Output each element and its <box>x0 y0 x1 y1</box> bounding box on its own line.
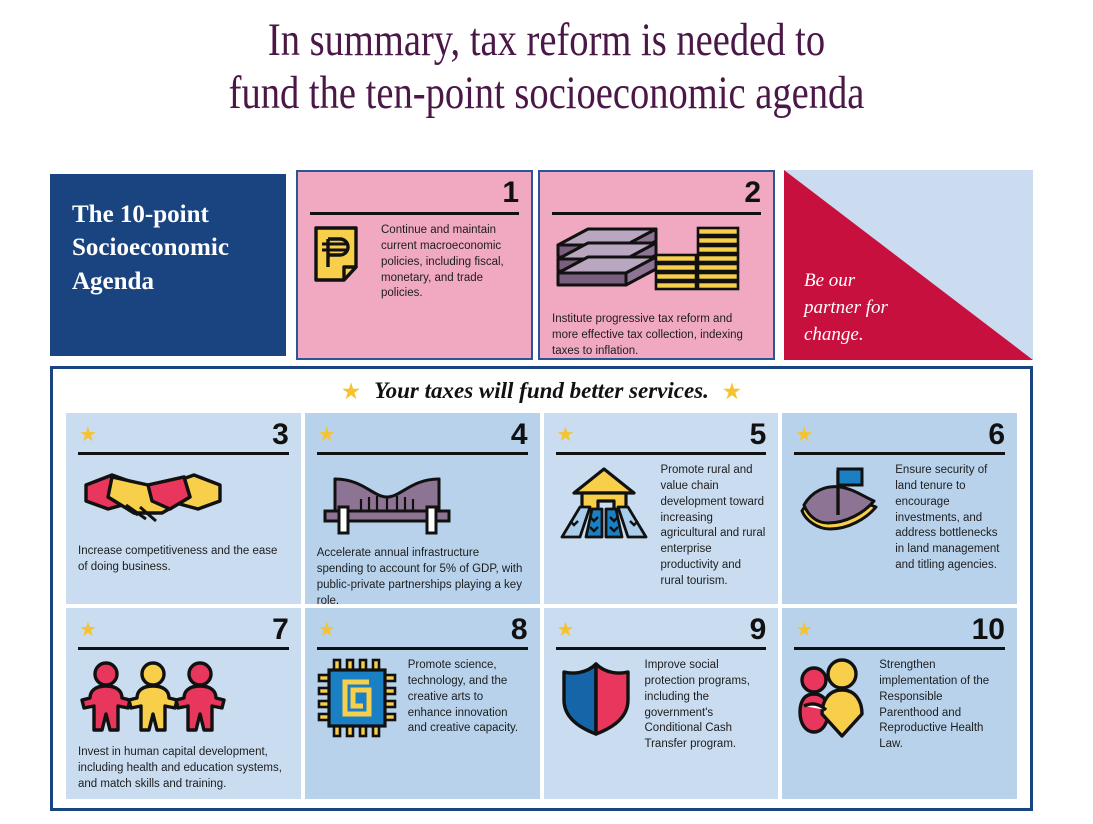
bridge-icon <box>317 463 528 540</box>
divider-rule <box>310 212 519 215</box>
divider-rule <box>78 452 289 455</box>
partner-message-line-3: change. <box>804 322 888 349</box>
agenda-item-2-description: Institute progressive tax reform and mor… <box>552 312 761 360</box>
divider-rule <box>78 647 289 650</box>
agenda-title-line-2: Socioeconomic <box>72 231 266 264</box>
shield-icon <box>556 658 636 743</box>
agenda-item-4-description: Accelerate annual infrastructure spendin… <box>317 546 528 604</box>
agenda-item-5[interactable]: ★ 5 <box>544 413 779 604</box>
mother-child-icon <box>794 658 870 743</box>
agenda-item-8-description: Promote science, technology, and the cre… <box>408 658 528 737</box>
agenda-item-5-description: Promote rural and value chain developmen… <box>661 463 767 590</box>
agenda-item-6-description: Ensure security of land tenure to encour… <box>895 463 1005 574</box>
three-people-icon <box>78 658 289 739</box>
divider-rule <box>556 452 767 455</box>
page-title-line-2: fund the ten-point socioeconomic agenda <box>98 67 994 120</box>
star-icon: ★ <box>317 425 337 445</box>
agenda-item-2[interactable]: 2 <box>538 170 775 360</box>
divider-rule <box>556 647 767 650</box>
agenda-item-3[interactable]: ★ 3 <box>66 413 301 604</box>
star-icon: ★ <box>794 620 814 640</box>
partner-message: Be our partner for change. <box>804 268 888 349</box>
star-icon: ★ <box>721 380 743 402</box>
star-icon: ★ <box>794 425 814 445</box>
divider-rule <box>794 647 1005 650</box>
agenda-item-6-number: 6 <box>988 420 1005 450</box>
divider-rule <box>317 452 528 455</box>
services-section: ★ Your taxes will fund better services. … <box>50 366 1033 811</box>
star-icon: ★ <box>556 620 576 640</box>
agenda-title-line-1: The 10-point <box>72 198 266 231</box>
handshake-icon <box>78 463 289 538</box>
agenda-item-9-description: Improve social protection programs, incl… <box>645 658 767 753</box>
agenda-title-box: The 10-point Socioeconomic Agenda <box>50 174 286 356</box>
agenda-item-10-number: 10 <box>972 615 1005 645</box>
agenda-item-4-number: 4 <box>511 420 528 450</box>
agenda-item-1-description: Continue and maintain current macroecono… <box>381 223 519 302</box>
agenda-item-7[interactable]: ★ 7 <box>66 608 301 799</box>
divider-rule <box>317 647 528 650</box>
agenda-item-8[interactable]: ★ 8 <box>305 608 540 799</box>
agenda-item-1[interactable]: 1 Continue and maintain current macroeco… <box>296 170 533 360</box>
partner-panel: Be our partner for change. <box>784 170 1033 360</box>
agenda-item-8-number: 8 <box>511 615 528 645</box>
agenda-item-10[interactable]: ★ 10 <box>782 608 1017 799</box>
agenda-item-4[interactable]: ★ 4 <box>305 413 540 604</box>
agenda-item-1-number: 1 <box>310 178 519 210</box>
star-icon: ★ <box>556 425 576 445</box>
agenda-item-6[interactable]: ★ 6 Ensure security of land tenure to en… <box>782 413 1017 604</box>
microchip-icon <box>317 658 399 743</box>
star-icon: ★ <box>317 620 337 640</box>
services-banner-text: Your taxes will fund better services. <box>374 378 709 404</box>
star-icon: ★ <box>340 380 362 402</box>
land-flag-icon <box>794 463 886 542</box>
farm-house-field-icon <box>556 463 652 548</box>
services-banner: ★ Your taxes will fund better services. … <box>53 369 1030 413</box>
agenda-item-9-number: 9 <box>750 615 767 645</box>
agenda-item-7-number: 7 <box>272 615 289 645</box>
agenda-item-2-number: 2 <box>552 178 761 210</box>
agenda-title-line-3: Agenda <box>72 265 266 298</box>
divider-rule <box>552 212 761 215</box>
agenda-item-3-number: 3 <box>272 420 289 450</box>
money-stack-coins-icon <box>552 223 761 306</box>
infographic: The 10-point Socioeconomic Agenda 1 <box>50 170 1033 811</box>
star-icon: ★ <box>78 425 98 445</box>
agenda-item-3-description: Increase competitiveness and the ease of… <box>78 544 289 576</box>
agenda-item-9[interactable]: ★ 9 Improve social protection programs, … <box>544 608 779 799</box>
star-icon: ★ <box>78 620 98 640</box>
agenda-item-7-description: Invest in human capital development, inc… <box>78 745 289 793</box>
top-row: The 10-point Socioeconomic Agenda 1 <box>50 170 1033 360</box>
peso-document-icon <box>310 223 372 290</box>
partner-message-line-1: Be our <box>804 268 888 295</box>
partner-message-line-2: partner for <box>804 295 888 322</box>
agenda-item-5-number: 5 <box>750 420 767 450</box>
page-title: In summary, tax reform is needed to fund… <box>98 0 994 119</box>
divider-rule <box>794 452 1005 455</box>
agenda-item-10-description: Strengthen implementation of the Respons… <box>879 658 1005 753</box>
agenda-grid: ★ 3 <box>66 413 1017 799</box>
page-title-line-1: In summary, tax reform is needed to <box>98 14 994 67</box>
